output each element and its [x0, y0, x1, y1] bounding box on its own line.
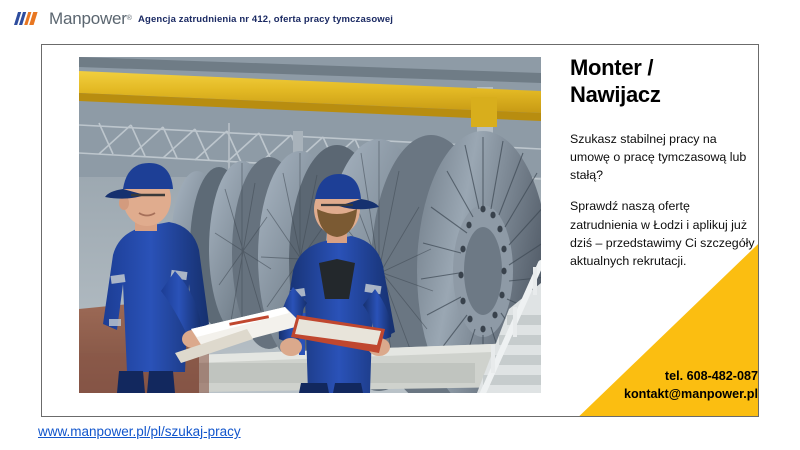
jobs-website-link[interactable]: www.manpower.pl/pl/szukaj-pracy: [38, 424, 241, 439]
job-title-line-2: Nawijacz: [570, 82, 755, 109]
job-offer-slide: Manpower ® Agencja zatrudnienia nr 412, …: [0, 0, 800, 450]
contact-block: tel. 608-482-087 kontakt@manpower.pl: [570, 367, 758, 404]
job-title-headline: Monter / Nawijacz: [570, 55, 755, 109]
logo-wordmark: Manpower: [49, 10, 127, 27]
offer-body-copy: Szukasz stabilnej pracy na umowę o pracę…: [570, 130, 755, 271]
offer-paragraph-1: Szukasz stabilnej pracy na umowę o pracę…: [570, 130, 755, 185]
offer-card: Monter / Nawijacz Szukasz stabilnej prac…: [41, 44, 759, 417]
workplace-photo: [79, 57, 541, 393]
offer-text-column: Monter / Nawijacz Szukasz stabilnej prac…: [570, 55, 755, 270]
manpower-logo: Manpower ®: [14, 10, 132, 27]
job-title-line-1: Monter /: [570, 55, 755, 82]
workplace-photo-illustration: [79, 57, 541, 393]
contact-email[interactable]: kontakt@manpower.pl: [570, 385, 758, 403]
agency-tagline: Agencja zatrudnienia nr 412, oferta prac…: [138, 14, 393, 25]
slide-header: Manpower ® Agencja zatrudnienia nr 412, …: [0, 0, 800, 42]
logo-trademark-symbol: ®: [127, 15, 132, 22]
contact-phone[interactable]: tel. 608-482-087: [570, 367, 758, 385]
manpower-bars-logo-icon: [14, 11, 44, 26]
offer-paragraph-2: Sprawdź naszą ofertę zatrudnienia w Łodz…: [570, 197, 755, 270]
